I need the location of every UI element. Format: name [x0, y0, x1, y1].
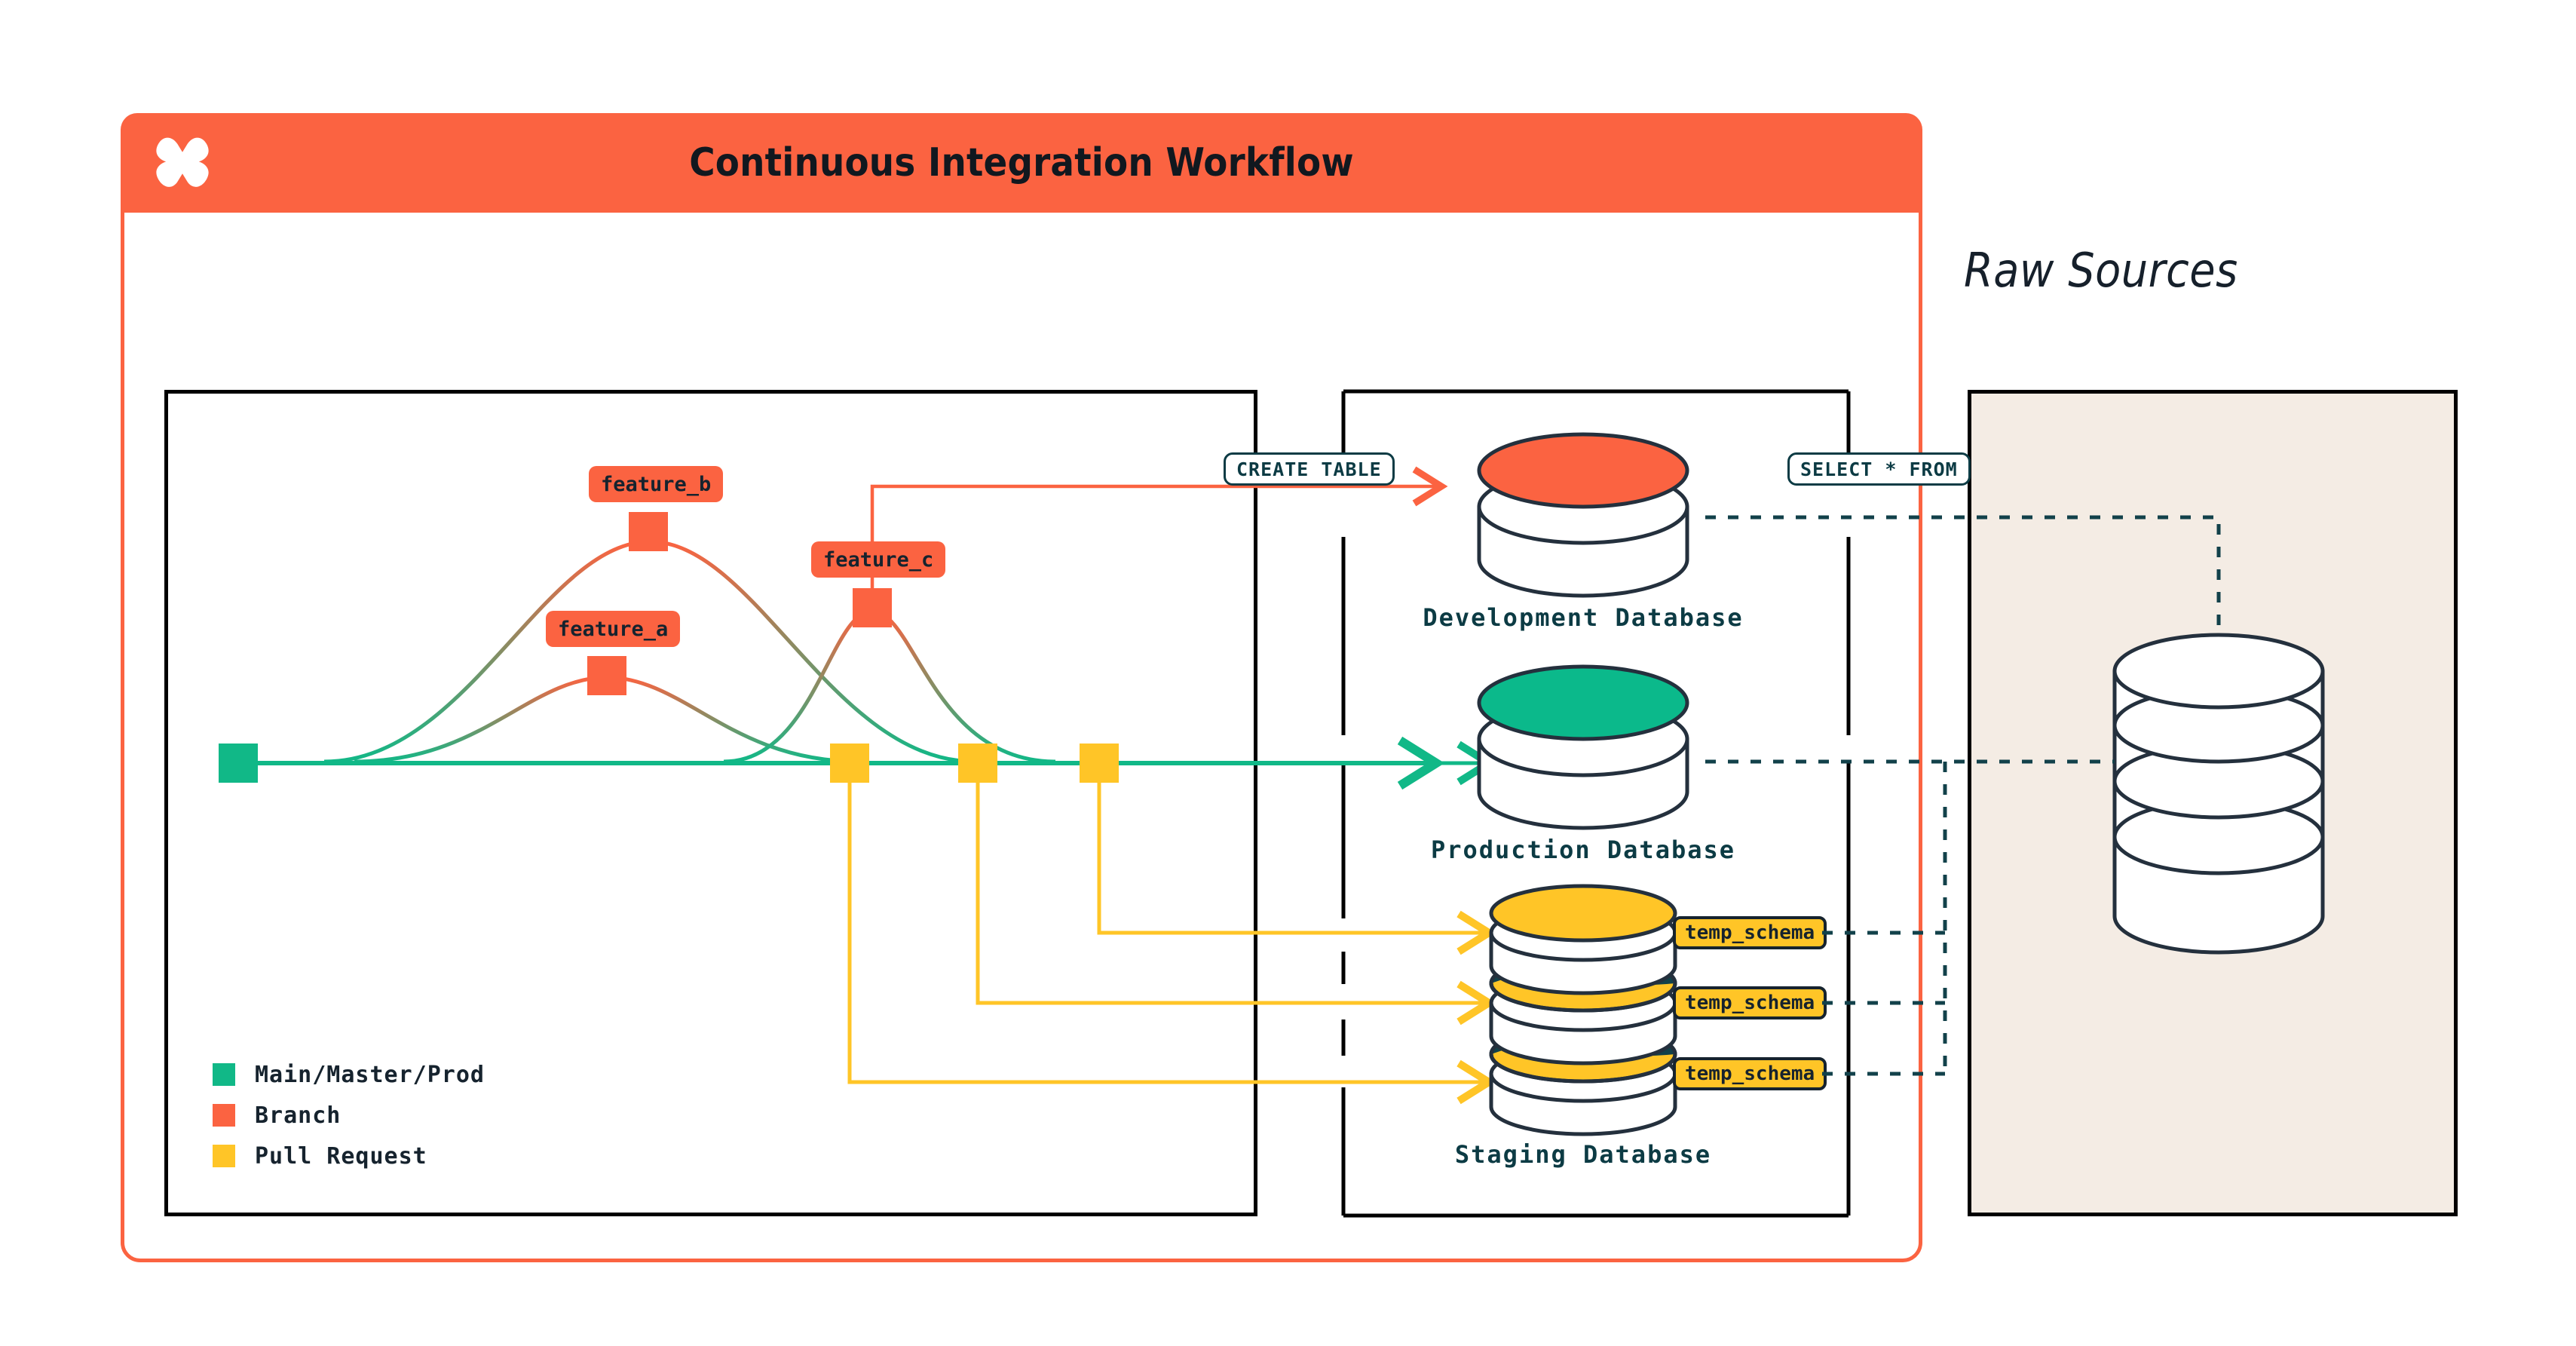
legend-swatch-pull-request-icon [213, 1145, 235, 1167]
legend-swatch-main-icon [213, 1063, 235, 1086]
dotted-link-development-to-source [1705, 517, 2219, 630]
legend-label-main: Main/Master/Prod [255, 1062, 485, 1088]
legend-item-main: Main/Master/Prod [213, 1054, 485, 1095]
legend-swatch-branch-icon [213, 1104, 235, 1127]
legend: Main/Master/Prod Branch Pull Request [213, 1054, 485, 1176]
legend-label-pull-request: Pull Request [255, 1143, 427, 1170]
legend-item-branch: Branch [213, 1095, 485, 1136]
legend-item-pull-request: Pull Request [213, 1136, 485, 1176]
diagram-canvas: Git Repository Target Database Raw Sourc… [0, 0, 2576, 1346]
legend-label-branch: Branch [255, 1102, 341, 1129]
